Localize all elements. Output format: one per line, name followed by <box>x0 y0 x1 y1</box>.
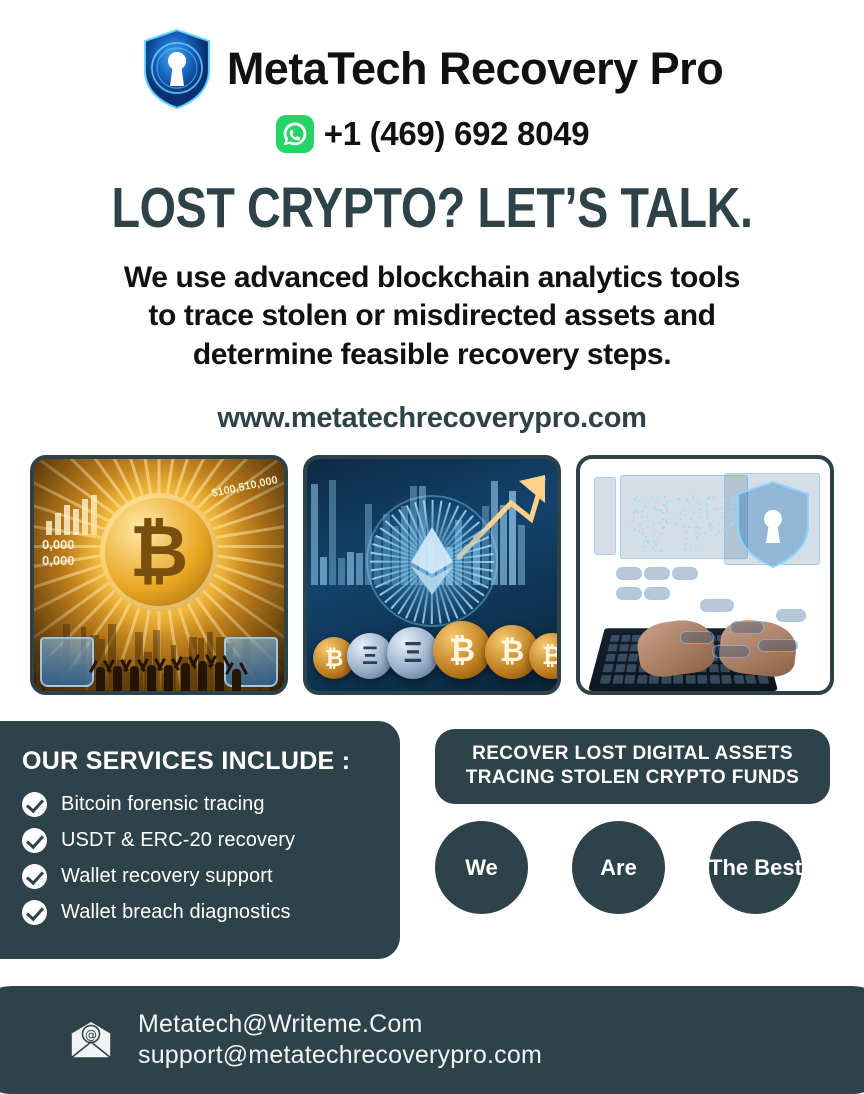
map-dot <box>664 496 666 498</box>
map-dot <box>696 536 698 538</box>
map-dot <box>726 534 728 536</box>
map-dot <box>642 528 644 530</box>
map-dot <box>720 507 722 509</box>
service-label: USDT & ERC-20 recovery <box>61 829 295 852</box>
map-dot <box>645 536 647 538</box>
keyboard-key <box>617 654 627 661</box>
map-dot <box>709 529 711 531</box>
map-dot <box>696 526 698 528</box>
map-dot <box>642 510 644 512</box>
map-dot <box>687 500 689 502</box>
svg-text:@: @ <box>85 1028 97 1042</box>
keyboard-key <box>621 635 631 642</box>
keyboard-key <box>619 644 629 651</box>
keyboard-key <box>709 675 719 684</box>
mini-bar-chart <box>46 495 102 535</box>
data-chip <box>700 599 734 612</box>
map-dot <box>653 523 655 525</box>
candlestick <box>356 553 363 585</box>
map-dot <box>693 512 695 514</box>
map-dot <box>644 505 646 507</box>
map-dot <box>651 497 653 499</box>
map-dot <box>678 498 680 500</box>
mini-bar <box>91 495 97 535</box>
recover-banner: RECOVER LOST DIGITAL ASSETS TRACING STOL… <box>435 729 830 804</box>
middle-section: OUR SERVICES INCLUDE : Bitcoin forensic … <box>0 721 864 971</box>
map-dot <box>699 503 701 505</box>
services-title: OUR SERVICES INCLUDE : <box>22 747 374 776</box>
map-dot <box>659 522 661 524</box>
brand-title: MetaTech Recovery Pro <box>227 43 723 95</box>
service-item-2: USDT & ERC-20 recovery <box>22 828 374 853</box>
map-dot <box>724 499 726 501</box>
page-headline: LOST CRYPTO? LET’S TALK. <box>78 180 786 237</box>
phone-row[interactable]: +1 (469) 692 8049 <box>0 114 864 154</box>
map-dot <box>647 526 649 528</box>
data-chip <box>616 567 642 580</box>
banner-line-1: RECOVER LOST DIGITAL ASSETS <box>445 742 820 766</box>
keyboard-key <box>636 675 647 684</box>
map-dot <box>633 512 635 514</box>
data-chip <box>616 587 642 600</box>
map-dot <box>683 526 685 528</box>
keyboard-key <box>626 664 637 672</box>
service-item-3: Wallet recovery support <box>22 864 374 889</box>
shield-keyhole-hologram-icon <box>734 479 812 571</box>
service-item-4: Wallet breach diagnostics <box>22 900 374 925</box>
map-dot <box>631 520 633 522</box>
circle-we: We <box>435 821 528 914</box>
mini-bar <box>73 509 79 535</box>
website-url[interactable]: www.metatechrecoverypro.com <box>0 402 864 435</box>
map-dot <box>731 502 733 504</box>
map-dot <box>685 538 687 540</box>
map-dot <box>695 522 697 524</box>
candlestick <box>329 480 336 585</box>
person-silhouette <box>181 663 190 691</box>
map-dot <box>675 523 677 525</box>
check-icon <box>22 828 47 853</box>
check-icon <box>22 900 47 925</box>
map-dot <box>637 511 639 513</box>
map-dot <box>725 529 727 531</box>
services-card: OUR SERVICES INCLUDE : Bitcoin forensic … <box>0 721 400 959</box>
map-dot <box>711 527 713 529</box>
mini-bar <box>55 513 61 535</box>
map-dot <box>692 495 694 497</box>
whatsapp-icon[interactable] <box>275 114 315 154</box>
panel-bitcoin-golden-scene: 0,0000,000 $100,510,000 ₿ <box>30 455 288 695</box>
keyboard-key <box>721 675 732 684</box>
map-dot <box>638 530 640 532</box>
map-dot <box>715 534 717 536</box>
map-dot <box>644 546 646 548</box>
crowd-silhouettes <box>34 651 284 691</box>
person-silhouette <box>164 665 173 691</box>
keyboard-key <box>685 675 695 684</box>
footer-contact-bar: @ Metatech@Writeme.Com support@metatechr… <box>0 986 864 1094</box>
keyboard-key <box>673 675 683 684</box>
map-dot <box>666 501 668 503</box>
map-dot <box>657 515 659 517</box>
subhead-line-3: determine feasible recovery steps. <box>60 336 804 374</box>
map-dot <box>684 549 686 551</box>
map-dot <box>706 511 708 513</box>
map-dot <box>653 540 655 542</box>
map-dot <box>680 518 682 520</box>
data-chip <box>644 587 670 600</box>
candlestick <box>338 558 345 585</box>
service-item-1: Bitcoin forensic tracing <box>22 792 374 817</box>
circle-are: Are <box>572 821 665 914</box>
map-dot <box>707 517 709 519</box>
map-dot <box>708 526 710 528</box>
ticker-numbers: 0,0000,000 <box>42 537 75 570</box>
map-dot <box>646 515 648 517</box>
email-list: Metatech@Writeme.Com support@metatechrec… <box>138 1009 542 1072</box>
map-dot <box>706 514 708 516</box>
map-dot <box>647 499 649 501</box>
panel-ethereum-market-scene: ₿ΞΞ₿₿₿₿ <box>303 455 561 695</box>
map-dot <box>685 543 687 545</box>
map-dot <box>654 507 656 509</box>
crypto-coin: Ξ <box>387 627 439 679</box>
map-dot <box>713 496 715 498</box>
map-dot <box>695 547 697 549</box>
map-dot <box>714 508 716 510</box>
map-dot <box>657 497 659 499</box>
world-map-hologram <box>622 481 746 555</box>
map-dot <box>690 545 692 547</box>
keyboard-key <box>628 654 638 661</box>
map-dot <box>698 533 700 535</box>
hud-panel-side <box>594 477 616 555</box>
map-dot <box>690 518 692 520</box>
map-dot <box>636 497 638 499</box>
keyboard-key <box>607 644 617 651</box>
map-dot <box>718 531 720 533</box>
keyboard-key <box>603 664 614 672</box>
header: MetaTech Recovery Pro +1 (469) 692 8049 <box>0 0 864 154</box>
check-icon <box>22 792 47 817</box>
map-dot <box>685 531 687 533</box>
candlestick <box>311 484 318 585</box>
map-dot <box>688 526 690 528</box>
map-dot <box>704 532 706 534</box>
data-chip <box>758 639 798 652</box>
map-dot <box>689 503 691 505</box>
map-dot <box>699 527 701 529</box>
data-chip <box>672 567 698 580</box>
data-chip <box>730 621 764 634</box>
bitcoin-coin-icon: ₿ <box>100 493 218 611</box>
map-dot <box>685 514 687 516</box>
envelope-at-icon: @ <box>68 1020 114 1060</box>
keyboard-key <box>624 675 635 684</box>
map-dot <box>659 509 661 511</box>
person-silhouette <box>96 667 105 691</box>
person-silhouette <box>130 666 139 691</box>
map-dot <box>641 516 643 518</box>
map-dot <box>666 511 668 513</box>
service-label: Bitcoin forensic tracing <box>61 793 265 816</box>
map-dot <box>661 527 663 529</box>
candlestick <box>347 552 354 585</box>
subhead-line-1: We use advanced blockchain analytics too… <box>60 259 804 297</box>
candlestick <box>320 557 327 585</box>
crypto-coin: Ξ <box>347 633 393 679</box>
map-dot <box>730 516 732 518</box>
subhead-line-2: to trace stolen or misdirected assets an… <box>60 297 804 335</box>
keyboard-key <box>757 675 769 684</box>
mini-bar <box>82 499 88 535</box>
map-dot <box>662 512 664 514</box>
map-dot <box>639 524 641 526</box>
map-dot <box>661 550 663 552</box>
map-dot <box>665 521 667 523</box>
email-primary[interactable]: Metatech@Writeme.Com <box>138 1009 542 1040</box>
service-label: Wallet recovery support <box>61 865 273 888</box>
map-dot <box>699 516 701 518</box>
map-dot <box>721 512 723 514</box>
map-dot <box>656 509 658 511</box>
map-dot <box>655 544 657 546</box>
keyboard-key <box>697 675 707 684</box>
map-dot <box>699 508 701 510</box>
map-dot <box>695 531 697 533</box>
check-icon <box>22 864 47 889</box>
map-dot <box>647 542 649 544</box>
coin-row: ₿ΞΞ₿₿₿₿ <box>307 605 557 683</box>
data-chip <box>776 609 806 622</box>
keyboard-key <box>745 675 756 684</box>
shield-keyhole-icon <box>141 28 213 110</box>
crypto-coin: ₿ <box>433 621 491 679</box>
map-dot <box>660 533 662 535</box>
keyboard-key <box>733 675 744 684</box>
map-dot <box>680 511 682 513</box>
map-dot <box>652 547 654 549</box>
map-dot <box>692 498 694 500</box>
keyboard-key <box>614 664 625 672</box>
map-dot <box>638 500 640 502</box>
person-silhouette <box>198 661 207 691</box>
data-chip <box>680 631 714 644</box>
data-chip <box>712 645 750 658</box>
map-dot <box>653 533 655 535</box>
map-dot <box>644 540 646 542</box>
map-dot <box>657 541 659 543</box>
panel-cybersecurity-laptop-scene <box>576 455 834 695</box>
tagline-circles: We Are The Best <box>435 821 830 914</box>
map-dot <box>730 525 732 527</box>
map-dot <box>706 503 708 505</box>
map-dot <box>719 524 721 526</box>
map-dot <box>633 517 635 519</box>
keyboard-key <box>605 654 616 661</box>
map-dot <box>683 509 685 511</box>
person-silhouette <box>113 666 122 691</box>
email-support[interactable]: support@metatechrecoverypro.com <box>138 1040 542 1071</box>
hero-subheading: We use advanced blockchain analytics too… <box>0 259 864 374</box>
map-dot <box>634 528 636 530</box>
circle-the-best: The Best <box>709 821 802 914</box>
person-silhouette <box>232 669 241 691</box>
mini-bar <box>46 521 52 535</box>
map-dot <box>679 513 681 515</box>
banner-line-2: TRACING STOLEN CRYPTO FUNDS <box>445 766 820 790</box>
keyboard-key <box>610 635 620 642</box>
map-dot <box>633 498 635 500</box>
map-dot <box>721 517 723 519</box>
image-panels: 0,0000,000 $100,510,000 ₿ ₿ΞΞ₿₿₿₿ <box>0 455 864 695</box>
map-dot <box>708 497 710 499</box>
map-dot <box>717 508 719 510</box>
brand-row: MetaTech Recovery Pro <box>0 28 864 110</box>
keyboard-key <box>600 675 612 684</box>
phone-number[interactable]: +1 (469) 692 8049 <box>324 115 590 153</box>
mini-bar <box>64 505 70 535</box>
person-silhouette <box>215 662 224 691</box>
crypto-coin: ₿ <box>529 633 561 679</box>
person-silhouette <box>147 665 156 691</box>
keyboard-key <box>612 675 623 684</box>
service-label: Wallet breach diagnostics <box>61 901 291 924</box>
data-chip <box>644 567 670 580</box>
map-dot <box>642 532 644 534</box>
map-dot <box>730 506 732 508</box>
